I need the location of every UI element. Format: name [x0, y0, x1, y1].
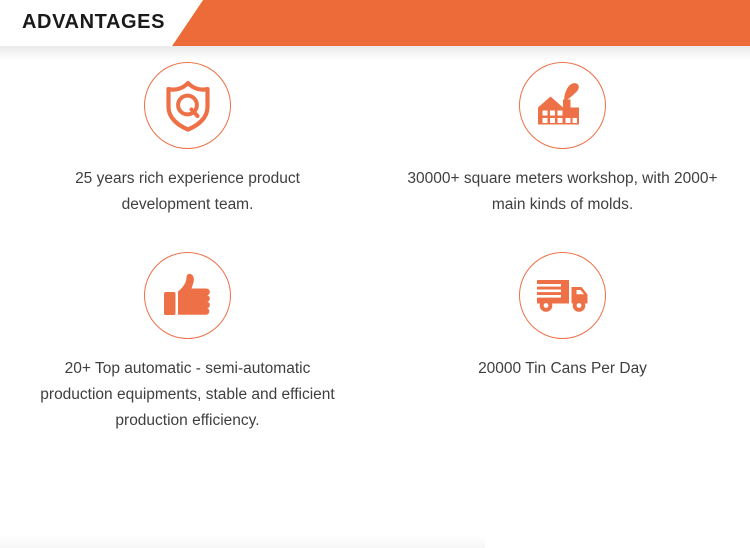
advantage-card-equipment: 20+ Top automatic - semi-automatic produ…: [0, 252, 375, 442]
advantage-text: 20+ Top automatic - semi-automatic produ…: [38, 356, 338, 434]
advantage-card-quality: 25 years rich experience product develop…: [0, 60, 375, 252]
section-header: ADVANTAGES: [0, 0, 750, 46]
advantage-card-capacity: 20000 Tin Cans Per Day: [375, 252, 750, 442]
advantage-text: 25 years rich experience product develop…: [38, 166, 338, 218]
advantage-card-workshop: 30000+ square meters workshop, with 2000…: [375, 60, 750, 252]
page-title: ADVANTAGES: [22, 0, 165, 46]
advantage-text: 20000 Tin Cans Per Day: [478, 356, 647, 382]
shield-quality-icon: [144, 62, 231, 149]
advantages-grid: 25 years rich experience product develop…: [0, 46, 750, 442]
thumbs-up-icon: [144, 252, 231, 339]
advantages-row-2: 20+ Top automatic - semi-automatic produ…: [0, 252, 750, 442]
advantage-text: 30000+ square meters workshop, with 2000…: [403, 166, 723, 218]
advantages-row-1: 25 years rich experience product develop…: [0, 60, 750, 252]
bottom-shadow: [0, 534, 485, 548]
delivery-truck-icon: [519, 252, 606, 339]
factory-icon: [519, 62, 606, 149]
